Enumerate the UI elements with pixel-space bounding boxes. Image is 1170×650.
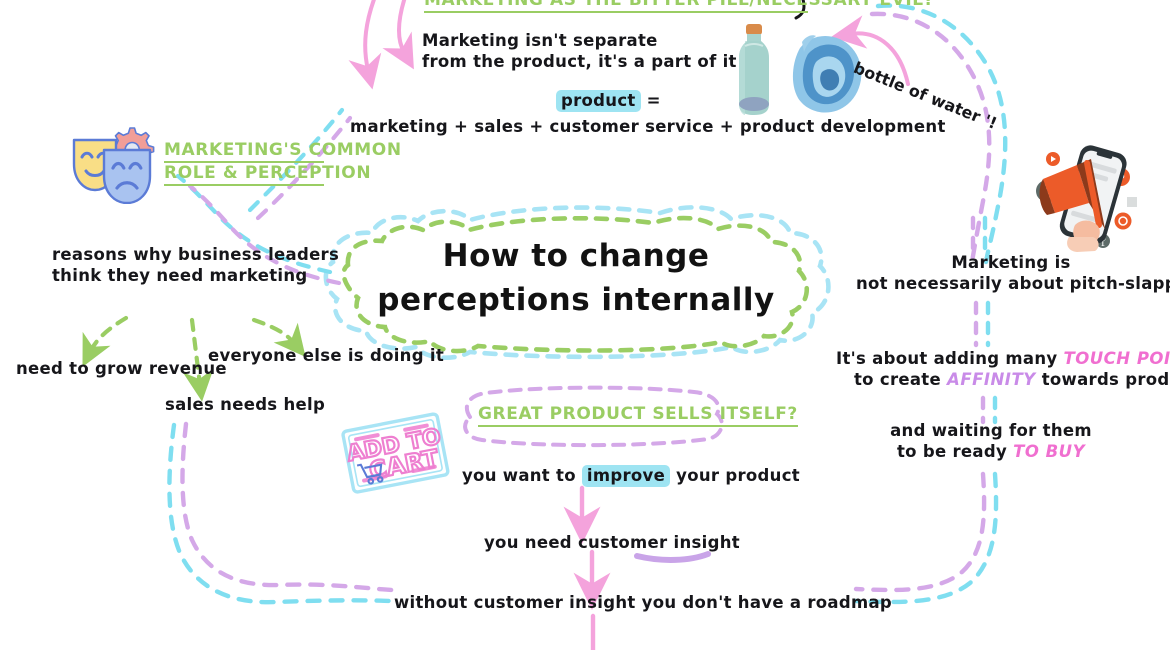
improve-suffix: your product — [676, 466, 800, 485]
insight-underline-swoosh — [637, 554, 708, 560]
product-highlight: product — [556, 90, 641, 112]
improve-product-line: you want to improve your product — [462, 465, 800, 486]
arrow-top-statement-pink — [399, 0, 406, 52]
reason-item-sales-needs-help: sales needs help — [165, 394, 325, 415]
right-waiting-line1: and waiting for them — [876, 420, 1106, 441]
top-statement-line1: Marketing isn't separate — [422, 30, 737, 51]
right-waiting-block: and waiting for them to be ready TO BUY — [876, 420, 1106, 462]
line-right-loop-purple — [856, 474, 984, 590]
product-equation-terms: marketing + sales + customer service + p… — [350, 116, 946, 137]
touch-points-emphasis: TOUCH POINTS — [1064, 349, 1170, 368]
reason-item-grow-revenue: need to grow revenue — [16, 358, 227, 379]
right-pitch-line1: Marketing is — [856, 252, 1166, 273]
left-branch-header-line2: role & perception — [164, 163, 324, 186]
center-title: How to change perceptions internally — [366, 234, 786, 322]
left-reasons-line1: reasons why business leaders — [52, 244, 339, 265]
improve-highlight: improve — [582, 465, 670, 487]
left-reasons-line2: think they need marketing — [52, 265, 339, 286]
theater-masks-gear-icon — [62, 126, 172, 204]
reason-item-everyone-else: everyone else is doing it — [208, 345, 444, 366]
center-title-line1: How to change — [366, 234, 786, 278]
left-reasons-intro: reasons why business leaders think they … — [52, 244, 339, 286]
add-to-cart-stamp-icon: ADD TO CART — [340, 412, 452, 500]
customer-insight-line: you need customer insight — [484, 532, 740, 553]
improve-prefix: you want to — [462, 466, 576, 485]
right-touchpoints-line1: It's about adding many TOUCH POINTS — [836, 348, 1170, 369]
product-equation-label-row: product = — [556, 90, 661, 111]
arrow-reason-1 — [90, 318, 126, 352]
waiting-prefix: to be ready — [897, 442, 1007, 461]
top-statement-line2: from the product, it's a part of it — [422, 51, 737, 72]
center-title-line2: perceptions internally — [366, 278, 786, 322]
right-waiting-line2: to be ready TO BUY — [876, 441, 1106, 462]
right-touchpoints-block: It's about adding many TOUCH POINTS to c… — [836, 348, 1170, 390]
equation-equals-sign: = — [647, 91, 661, 110]
affinity-emphasis: AFFINITY — [947, 370, 1036, 389]
to-buy-emphasis: TO BUY — [1013, 442, 1085, 461]
left-branch-header-line1: Marketing's common — [164, 140, 324, 163]
bottom-branch-header: Great product sells itself? — [478, 404, 798, 427]
affinity-suffix: towards product — [1042, 370, 1170, 389]
touch-prefix: It's about adding many — [836, 349, 1057, 368]
arrow-reason-3 — [254, 320, 295, 344]
phone-megaphone-social-icon: P f — [1025, 133, 1151, 253]
line-top-to-right-purple — [872, 14, 989, 262]
top-statement: Marketing isn't separate from the produc… — [422, 30, 737, 72]
left-branch-header: Marketing's common role & perception — [164, 140, 324, 186]
mindmap-canvas: P f — [0, 0, 1170, 650]
top-branch-header: Marketing as the bitter pill/necessary e… — [424, 0, 808, 13]
bottom-branch-header-text: Great product sells itself? — [478, 404, 798, 427]
arrow-top-left-pink — [365, 0, 376, 70]
right-pitch-line2: not necessarily about pitch-slapping — [856, 273, 1166, 294]
line-right-loop-cyan — [856, 474, 996, 602]
affinity-prefix: to create — [854, 370, 941, 389]
right-pitch-block: Marketing is not necessarily about pitch… — [856, 252, 1166, 294]
right-touchpoints-line2: to create AFFINITY towards product — [836, 369, 1170, 390]
roadmap-line: without customer insight you don't have … — [394, 592, 892, 613]
top-branch-header-text: Marketing as the bitter pill/necessary e… — [424, 0, 808, 13]
